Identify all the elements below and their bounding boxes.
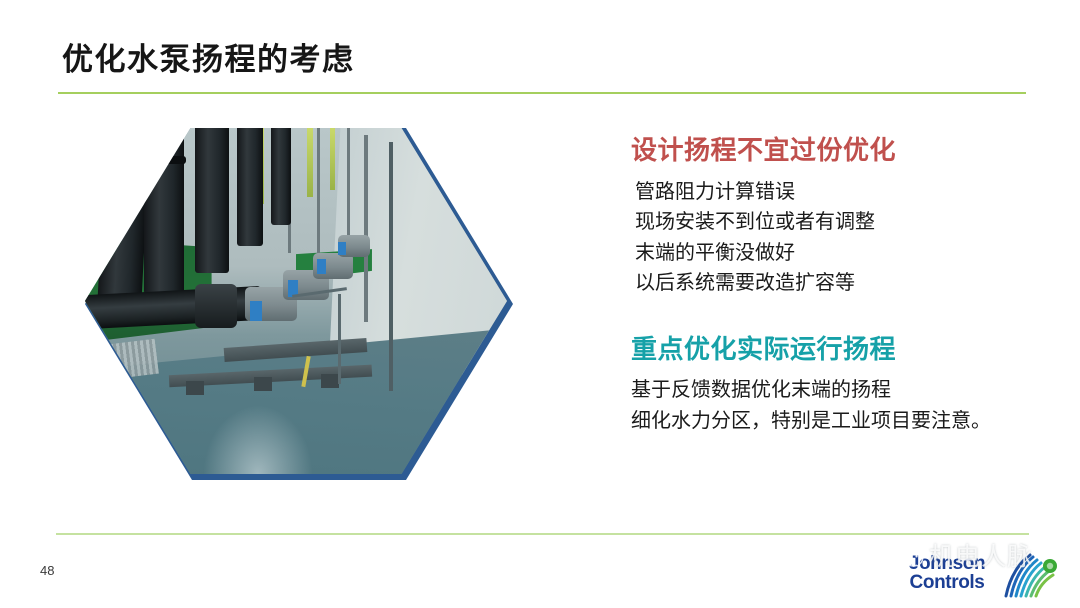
content-block-operation: 重点优化实际运行扬程 基于反馈数据优化末端的扬程 细化水力分区，特别是工业项目要… (631, 333, 1051, 437)
block-body-design: 管路阻力计算错误 现场安装不到位或者有调整 末端的平衡没做好 以后系统需要改造扩… (635, 177, 1051, 299)
photo-pump-volute (195, 284, 237, 328)
body-line: 现场安装不到位或者有调整 (635, 207, 1051, 238)
photo-pipe-flange (98, 159, 148, 168)
body-line: 以后系统需要改造扩容等 (635, 268, 1051, 299)
footer-divider (56, 533, 1029, 535)
logo-line-2: Controls (888, 573, 1006, 592)
body-line: 基于反馈数据优化末端的扬程 (631, 375, 1051, 406)
johnson-controls-logo: Johnson Controls (888, 552, 1068, 604)
photo-blue-tag (338, 242, 346, 255)
page-number: 48 (40, 563, 54, 578)
photo-riser (389, 142, 393, 391)
photo-anchor (254, 377, 272, 391)
logo-line-1: Johnson (909, 553, 985, 574)
photo-green-tube (307, 128, 313, 197)
photo-blue-tag (250, 301, 262, 321)
photo-pipe-large (195, 128, 229, 273)
slide-canvas: 优化水泵扬程的考虑 (0, 0, 1080, 608)
page-title: 优化水泵扬程的考虑 (62, 34, 355, 79)
header-divider (58, 92, 1026, 94)
pump-room-photo (85, 128, 513, 480)
photo-pipe-flange (140, 156, 186, 164)
block-heading-design: 设计扬程不宜过份优化 (631, 134, 1051, 167)
photo-riser (317, 128, 320, 259)
photo-pipe-large (144, 128, 184, 294)
photo-pipe-large (237, 128, 263, 246)
body-line: 细化水力分区，特别是工业项目要注意。 (631, 406, 1051, 437)
block-heading-operation: 重点优化实际运行扬程 (631, 333, 1051, 366)
photo-green-tube (330, 128, 335, 190)
johnson-controls-fan-mark (1000, 552, 1062, 598)
content-column: 设计扬程不宜过份优化 管路阻力计算错误 现场安装不到位或者有调整 末端的平衡没做… (631, 134, 1051, 437)
logo-wordmark: Johnson Controls (888, 554, 1006, 593)
content-block-design: 设计扬程不宜过份优化 管路阻力计算错误 现场安装不到位或者有调整 末端的平衡没做… (631, 134, 1051, 299)
photo-handrail (338, 294, 341, 384)
body-line: 末端的平衡没做好 (635, 238, 1051, 269)
photo-blue-tag (317, 259, 326, 274)
block-body-operation: 基于反馈数据优化末端的扬程 细化水力分区，特别是工业项目要注意。 (631, 375, 1051, 436)
photo-anchor (321, 374, 339, 388)
photo-riser (364, 135, 368, 322)
photo-floor-reflection (203, 405, 313, 474)
body-line: 管路阻力计算错误 (635, 177, 1051, 208)
photo-hexagon-image (85, 128, 507, 474)
photo-anchor (186, 381, 204, 395)
photo-pipe-large (271, 128, 291, 225)
